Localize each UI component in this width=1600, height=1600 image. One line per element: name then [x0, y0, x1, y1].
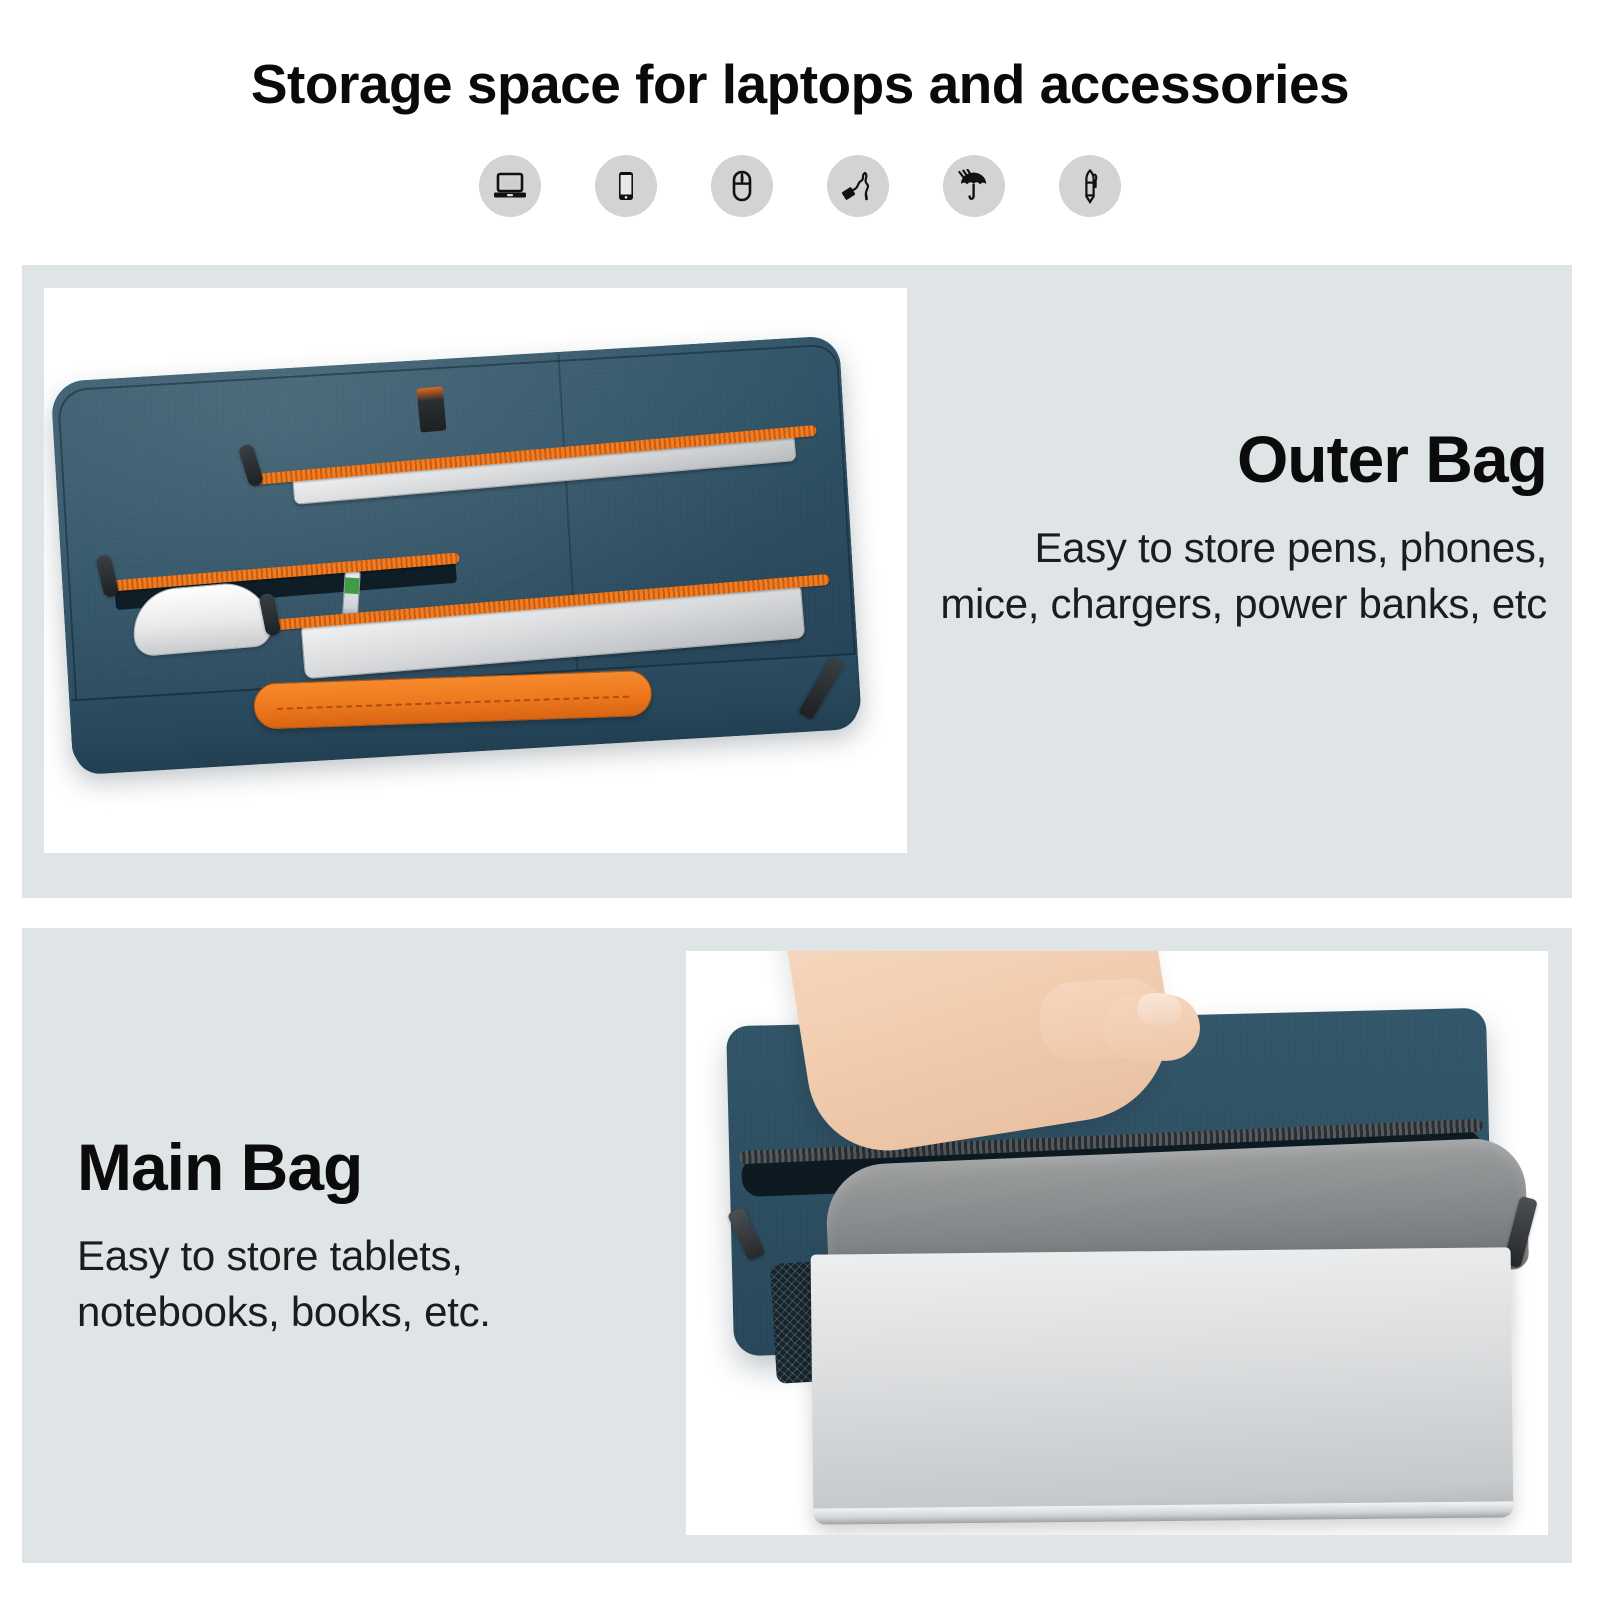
feature-icon-row: [0, 155, 1600, 217]
umbrella-icon: [943, 155, 1005, 217]
fingernail: [1136, 992, 1182, 1026]
outer-bag-copy: Outer Bag Easy to store pens, phones, mi…: [927, 425, 1547, 631]
laptop-icon: [479, 155, 541, 217]
mouse-icon: [711, 155, 773, 217]
main-bag-copy: Main Bag Easy to store tablets, notebook…: [77, 1133, 637, 1339]
outer-bag-description: Easy to store pens, phones, mice, charge…: [927, 520, 1547, 631]
pen-icon: [1059, 155, 1121, 217]
outer-bag-heading: Outer Bag: [927, 425, 1547, 494]
header: Storage space for laptops and accessorie…: [0, 0, 1600, 252]
main-bag-description: Easy to store tablets, notebooks, books,…: [77, 1228, 637, 1339]
laptop-inserted: [811, 1247, 1514, 1524]
page-title: Storage space for laptops and accessorie…: [0, 52, 1600, 116]
charger-icon: [827, 155, 889, 217]
panel-main-bag: Main Bag Easy to store tablets, notebook…: [22, 928, 1572, 1563]
brand-tab: [417, 386, 447, 432]
panel-outer-bag: Outer Bag Easy to store pens, phones, mi…: [22, 265, 1572, 898]
main-bag-photo: [686, 951, 1548, 1535]
laptop-bottom-edge: [813, 1501, 1513, 1524]
main-bag-heading: Main Bag: [77, 1133, 637, 1202]
phone-icon: [595, 155, 657, 217]
outer-bag-photo: [44, 288, 907, 853]
pen-label: [344, 577, 359, 594]
sleeve-flat-lay: [50, 335, 874, 802]
sleeve-open-scene: [686, 951, 1548, 1535]
